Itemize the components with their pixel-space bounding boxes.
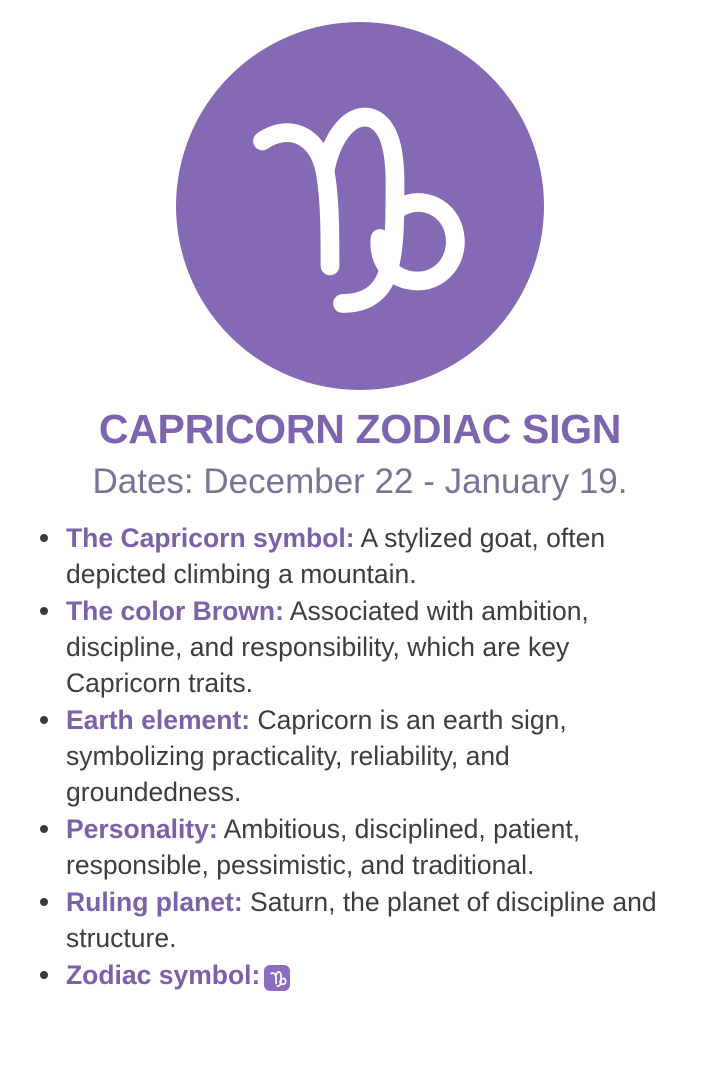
capricorn-emblem xyxy=(176,22,544,390)
fact-label: Personality: xyxy=(66,814,218,844)
bullet-dot-icon xyxy=(40,607,48,615)
bullet-dot-icon xyxy=(40,716,48,724)
zodiac-infographic-page: CAPRICORN ZODIAC SIGN Dates: December 22… xyxy=(0,0,720,1080)
facts-list: The Capricorn symbol: A stylized goat, o… xyxy=(0,520,720,994)
fact-label: Ruling planet: xyxy=(66,887,243,917)
capricorn-zodiac-glyph-icon xyxy=(235,81,485,331)
bullet-dot-icon xyxy=(40,825,48,833)
fact-item: Personality: Ambitious, disciplined, pat… xyxy=(32,811,680,883)
page-title: CAPRICORN ZODIAC SIGN xyxy=(99,408,621,451)
bullet-dot-icon xyxy=(40,898,48,906)
bullet-dot-icon xyxy=(40,534,48,542)
fact-item: The Capricorn symbol: A stylized goat, o… xyxy=(32,520,680,592)
fact-item: Earth element: Capricorn is an earth sig… xyxy=(32,702,680,810)
emblem-circle xyxy=(176,22,544,390)
bullet-dot-icon xyxy=(40,971,48,979)
dates-subtitle: Dates: December 22 - January 19. xyxy=(93,463,628,502)
fact-label: The color Brown: xyxy=(66,596,284,626)
fact-item: The color Brown: Associated with ambitio… xyxy=(32,593,680,701)
fact-label: The Capricorn symbol: xyxy=(66,523,355,553)
fact-item: Zodiac symbol: xyxy=(32,957,680,993)
fact-label: Zodiac symbol: xyxy=(66,960,260,990)
fact-item: Ruling planet: Saturn, the planet of dis… xyxy=(32,884,680,956)
capricorn-symbol-badge-icon xyxy=(264,965,290,991)
fact-label: Earth element: xyxy=(66,705,250,735)
